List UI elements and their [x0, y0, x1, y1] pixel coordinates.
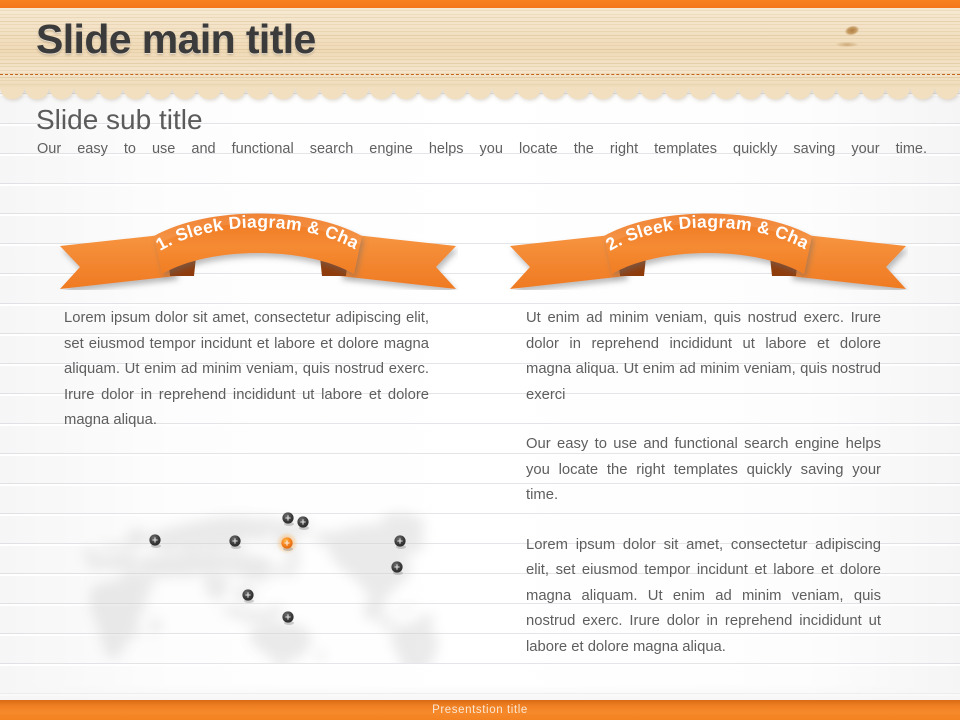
usa-pin[interactable]: [391, 561, 403, 575]
scallop-bump: [689, 87, 714, 99]
scallop-bump: [566, 87, 591, 99]
indonesia-pin[interactable]: [242, 589, 254, 603]
ne-russia-pin-b[interactable]: [297, 516, 309, 530]
ne-russia-pin-a[interactable]: [282, 512, 294, 526]
page-subtitle-description: Our easy to use and functional search en…: [37, 141, 927, 157]
scallop-bump: [812, 87, 837, 99]
scalloped-edge: [0, 87, 960, 101]
scallop-bump: [935, 87, 960, 99]
page-title: Slide main title: [36, 16, 316, 63]
paragraph: Lorem ipsum dolor sit amet, consectetur …: [64, 306, 429, 434]
scallop-bump: [295, 87, 320, 99]
page-subtitle: Slide sub title: [36, 104, 203, 136]
scallop-bump: [861, 87, 886, 99]
central-asia-pin[interactable]: [229, 535, 241, 549]
scallop-bump: [344, 87, 369, 99]
scallop-bump: [394, 87, 419, 99]
section-01-body: Lorem ipsum dolor sit amet, consectetur …: [64, 306, 429, 434]
wood-grain-mark-icon: [836, 42, 858, 47]
top-accent-bar: [0, 0, 960, 8]
paragraph: Our easy to use and functional search en…: [526, 432, 881, 509]
australia-pin[interactable]: [282, 611, 294, 625]
scallop-bump: [369, 87, 394, 99]
scallop-bump: [787, 87, 812, 99]
scallop-bump: [443, 87, 468, 99]
scallop-bump: [98, 87, 123, 99]
scallop-bump: [74, 87, 99, 99]
scallop-bump: [221, 87, 246, 99]
scallop-bump: [271, 87, 296, 99]
scallop-bump: [148, 87, 173, 99]
scallop-bump: [640, 87, 665, 99]
scallop-bump: [492, 87, 517, 99]
scallop-bump: [418, 87, 443, 99]
scallop-bump: [0, 87, 25, 99]
scallop-bump: [197, 87, 222, 99]
scallop-bump: [713, 87, 738, 99]
scallop-bump: [49, 87, 74, 99]
scallop-bump: [541, 87, 566, 99]
section-ribbon-02[interactable]: 02. Sleek Diagram & Chart: [508, 204, 908, 290]
section-02-body: Ut enim ad minim veniam, quis nostrud ex…: [526, 306, 881, 660]
scallop-bump: [886, 87, 911, 99]
scalloped-edge-svg: [0, 87, 960, 101]
paragraph: Lorem ipsum dolor sit amet, consectetur …: [526, 533, 881, 661]
scallop-bump: [320, 87, 345, 99]
japan-pin[interactable]: [276, 532, 298, 554]
scallop-bump: [25, 87, 50, 99]
paragraph: Ut enim ad minim veniam, quis nostrud ex…: [526, 306, 881, 408]
scallop-bump: [763, 87, 788, 99]
canada-pin[interactable]: [394, 535, 406, 549]
footer-title: Presentstion title: [0, 704, 960, 716]
ribbon-01-graphic: [58, 204, 458, 290]
scallop-bump: [738, 87, 763, 99]
scallop-bump: [590, 87, 615, 99]
ribbon-02-graphic: [508, 204, 908, 290]
header-dashed-divider: [0, 74, 960, 75]
scallop-bump: [246, 87, 271, 99]
section-ribbon-01[interactable]: 01. Sleek Diagram & Chart: [58, 204, 458, 290]
europe-pin[interactable]: [149, 534, 161, 548]
scallop-bump: [123, 87, 148, 99]
scallop-bump: [910, 87, 935, 99]
scallop-bump: [517, 87, 542, 99]
scallop-bump: [615, 87, 640, 99]
footer-fade: [0, 684, 960, 700]
scallop-bump: [172, 87, 197, 99]
scallop-bump: [467, 87, 492, 99]
world-map-svg: [60, 478, 480, 663]
world-map: [60, 478, 480, 663]
scallop-bump: [664, 87, 689, 99]
scallop-bump: [836, 87, 861, 99]
slide-canvas: Slide main title Slide sub title Our eas…: [0, 0, 960, 720]
